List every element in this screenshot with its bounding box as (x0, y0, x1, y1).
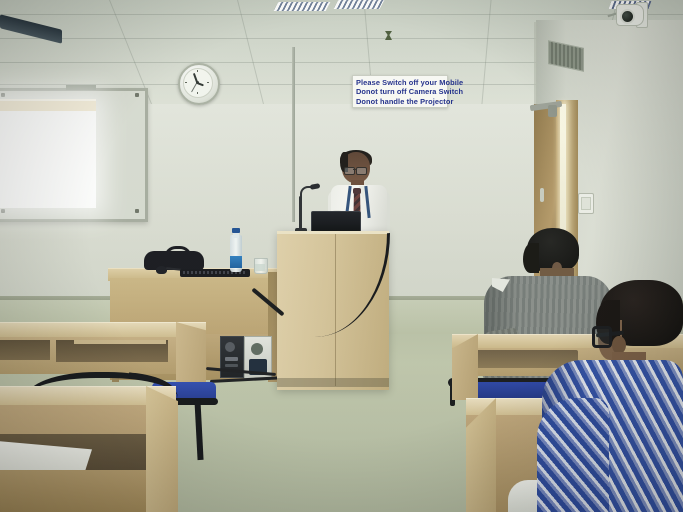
audience-member-blue-arm (537, 398, 609, 512)
audience-member-blue-glasses (592, 326, 612, 348)
wall-clock-face (183, 68, 213, 98)
presenter-glasses-right (356, 167, 367, 175)
ceiling-light-panel (274, 2, 331, 11)
audience-member-grey-hair-side (523, 243, 539, 273)
notice-sign: Please Switch off your Mobile Donot turn… (352, 75, 448, 108)
notice-line-2: Donot turn off Camera Switch (356, 87, 444, 96)
projected-slide (0, 99, 96, 208)
water-bottle-cap[interactable] (232, 228, 240, 233)
cctv-lens-icon (620, 9, 635, 24)
student-desk-top (0, 322, 206, 337)
presenter-tie-knot (353, 188, 361, 194)
water-bottle-label (230, 256, 242, 268)
drinking-glass-water (255, 264, 265, 271)
microphone-stand (299, 196, 302, 232)
whiteboard-bracket (66, 85, 96, 90)
presenter-glasses-bridge (353, 169, 356, 170)
door-closer-body (548, 105, 557, 117)
lectern-shadow (277, 378, 389, 387)
door-handle[interactable] (540, 188, 544, 202)
projected-slide-header (0, 101, 96, 111)
notice-line-1: Please Switch off your Mobile (356, 78, 444, 87)
classroom-scene: Please Switch off your Mobile Donot turn… (0, 0, 683, 512)
light-switch-button[interactable] (581, 197, 591, 210)
notice-line-3: Donot handle the Projector (356, 97, 444, 106)
student-desk-shelf (0, 340, 50, 360)
ceiling-light-panel (334, 0, 385, 9)
projector-pole (292, 47, 295, 222)
student-desk-shelf-lip (74, 340, 166, 344)
student-desk-side (146, 386, 178, 512)
